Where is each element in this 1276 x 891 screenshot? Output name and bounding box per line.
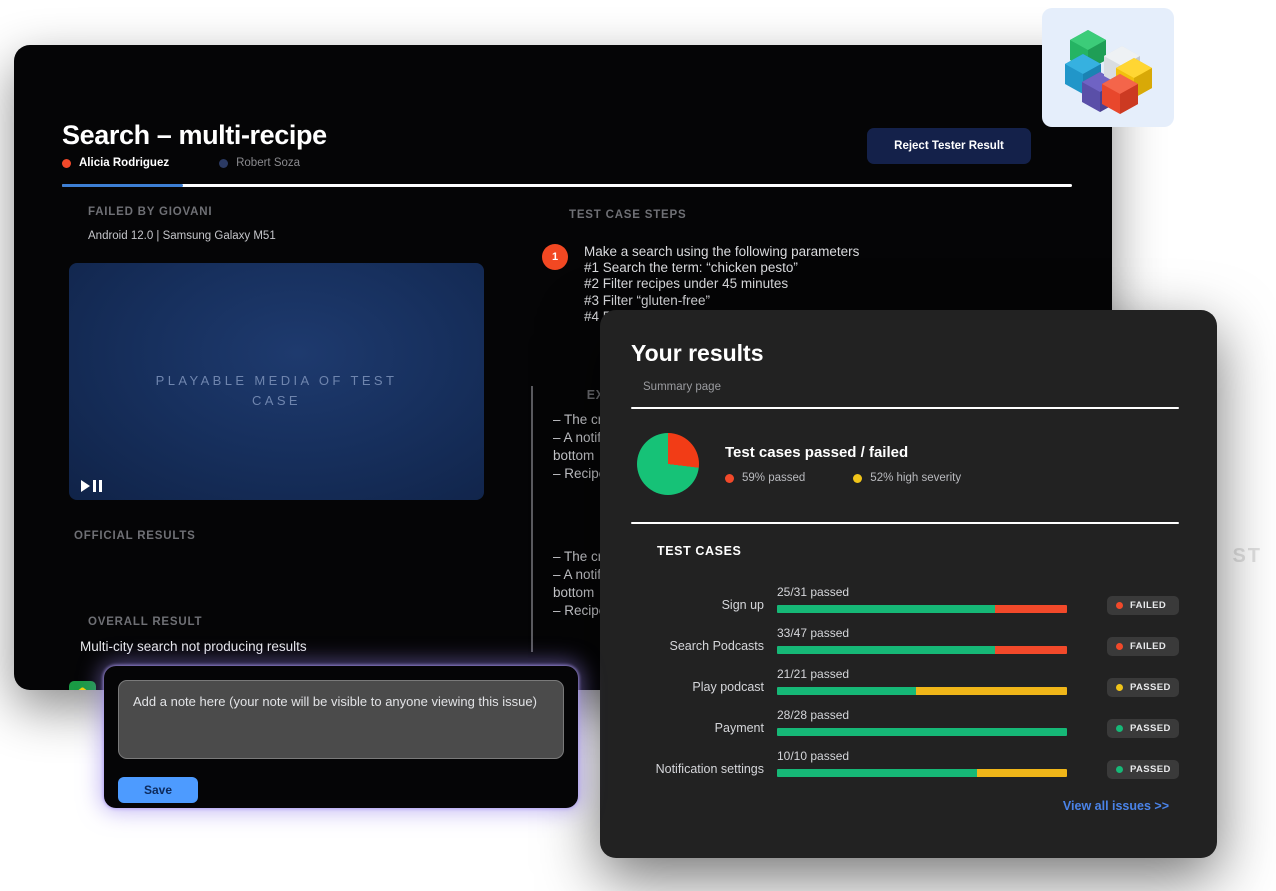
progress-bar [777, 687, 1067, 695]
passed-failed-pie-chart [637, 433, 699, 495]
save-button[interactable]: Save [118, 777, 198, 803]
status-dot-icon [1116, 766, 1123, 773]
app-logo-badge [1042, 8, 1174, 127]
expected-actual-rule [531, 386, 533, 652]
table-row[interactable]: Payment 28/28 passed PASSED [631, 695, 1179, 736]
test-case-name: Payment [631, 721, 777, 736]
pass-count: 33/47 passed [777, 626, 849, 640]
status-badge: PASSED [1107, 760, 1179, 779]
page-title: Search – multi-recipe [62, 120, 327, 151]
table-row[interactable]: Notification settings 10/10 passed PASSE… [631, 736, 1179, 777]
status-label: PASSED [1130, 764, 1171, 775]
media-placeholder-text: PLAYABLE MEDIA OF TEST CASE [69, 371, 484, 411]
pass-count: 25/31 passed [777, 585, 849, 599]
overall-result-label: OVERALL RESULT [88, 616, 202, 628]
pass-count: 21/21 passed [777, 667, 849, 681]
tab-label: Alicia Rodriguez [79, 157, 169, 169]
status-label: PASSED [1130, 723, 1171, 734]
test-case-steps-label: TEST CASE STEPS [569, 209, 686, 221]
legend-label: 59% passed [742, 472, 805, 484]
pass-count: 28/28 passed [777, 708, 849, 722]
tab-label: Robert Soza [236, 157, 300, 169]
tab-rule [62, 184, 1072, 187]
table-row[interactable]: Play podcast 21/21 passed PASSED [631, 654, 1179, 695]
pass-count: 10/10 passed [777, 749, 849, 763]
tab-robert-soza[interactable]: Robert Soza [219, 157, 350, 169]
legend-dot-icon [725, 474, 734, 483]
status-badge: PASSED [1107, 678, 1179, 697]
reject-tester-result-button[interactable]: Reject Tester Result [867, 128, 1031, 164]
divider [631, 522, 1179, 524]
tester-tabs: Alicia Rodriguez Robert Soza [62, 157, 350, 169]
progress-bar [777, 728, 1067, 736]
status-badge: FAILED [1107, 637, 1179, 656]
failed-by-label: FAILED BY GIOVANI [88, 206, 212, 218]
step-number-badge: 1 [542, 244, 568, 270]
background-watermark: ST [1232, 545, 1262, 568]
legend-label: 52% high severity [870, 472, 961, 484]
status-dot-icon [1116, 725, 1123, 732]
test-cases-list: Sign up 25/31 passed FAILED Search Podca… [631, 572, 1179, 777]
summary-chart-row: Test cases passed / failed 59% passed 52… [631, 433, 1179, 495]
summary-title: Test cases passed / failed [725, 444, 961, 461]
tab-status-dot-icon [62, 159, 71, 168]
progress-bar-wrap: 33/47 passed [777, 646, 1067, 654]
test-case-name: Play podcast [631, 680, 777, 695]
brazil-flag-icon [69, 681, 96, 690]
screen: ST Search – multi-recipe Reject Tester R… [0, 0, 1276, 891]
tab-rule-active-indicator [62, 184, 183, 187]
test-case-name: Notification settings [631, 762, 777, 777]
status-badge: FAILED [1107, 596, 1179, 615]
legend-dot-icon [853, 474, 862, 483]
overall-result-value: Multi-city search not producing results [80, 639, 307, 654]
progress-bar [777, 646, 1067, 654]
results-title: Your results [631, 340, 1179, 367]
status-dot-icon [1116, 602, 1123, 609]
divider [631, 407, 1179, 409]
progress-bar-wrap: 28/28 passed [777, 728, 1067, 736]
progress-bar-wrap: 21/21 passed [777, 687, 1067, 695]
table-row[interactable]: Sign up 25/31 passed FAILED [631, 572, 1179, 613]
official-results-label: OFFICIAL RESULTS [74, 530, 196, 542]
tab-status-dot-icon [219, 159, 228, 168]
your-results-panel: Your results Summary page Test cases pas… [600, 310, 1217, 858]
progress-bar [777, 769, 1067, 777]
note-input[interactable] [118, 680, 564, 759]
progress-bar [777, 605, 1067, 613]
play-pause-icon[interactable] [81, 480, 102, 492]
test-case-name: Sign up [631, 598, 777, 613]
hexagon-cubes-logo-icon [1058, 20, 1158, 116]
status-label: PASSED [1130, 682, 1171, 693]
legend-item-passed: 59% passed [725, 472, 805, 484]
media-player[interactable]: PLAYABLE MEDIA OF TEST CASE [69, 263, 484, 500]
test-cases-label: TEST CASES [657, 544, 1179, 558]
status-dot-icon [1116, 643, 1123, 650]
results-subtitle: Summary page [643, 381, 1179, 393]
status-badge: PASSED [1107, 719, 1179, 738]
view-all-issues-link[interactable]: View all issues >> [631, 799, 1179, 813]
status-label: FAILED [1130, 600, 1166, 611]
test-case-name: Search Podcasts [631, 639, 777, 654]
add-note-dialog: Save [104, 666, 578, 808]
tab-alicia-rodriguez[interactable]: Alicia Rodriguez [62, 157, 219, 169]
progress-bar-wrap: 25/31 passed [777, 605, 1067, 613]
device-meta: Android 12.0 | Samsung Galaxy M51 [88, 230, 276, 242]
chart-legend: 59% passed 52% high severity [725, 472, 961, 484]
status-label: FAILED [1130, 641, 1166, 652]
table-row[interactable]: Search Podcasts 33/47 passed FAILED [631, 613, 1179, 654]
legend-item-high-severity: 52% high severity [853, 472, 961, 484]
progress-bar-wrap: 10/10 passed [777, 769, 1067, 777]
status-dot-icon [1116, 684, 1123, 691]
